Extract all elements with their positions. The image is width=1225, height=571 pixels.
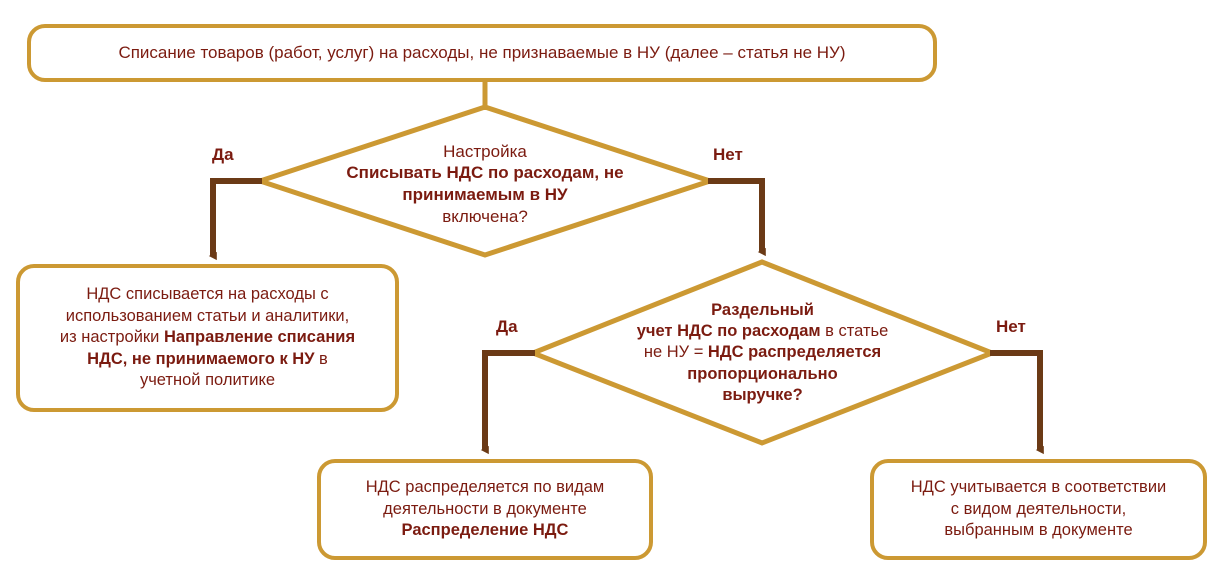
edge-decision2-yes — [485, 353, 535, 450]
edge-decision2-no — [990, 353, 1040, 450]
decision1-line-4: включена? — [346, 206, 623, 228]
result-left-line-5: учетной политике — [32, 370, 383, 391]
decision2-line-5: выручке? — [637, 385, 889, 406]
result-left-line-4-bold: НДС, не принимаемого к НУ — [87, 350, 314, 368]
node-result-bottom-right-text: НДС учитывается в соответствии с видом д… — [886, 477, 1191, 541]
edge-label-decision1-yes: Да — [212, 145, 234, 165]
node-start[interactable]: Списание товаров (работ, услуг) на расхо… — [27, 24, 937, 82]
edge-decision1-no — [708, 181, 762, 252]
node-decision1[interactable]: Настройка Списывать НДС по расходам, не … — [300, 130, 670, 238]
decision2-line-3: не НУ = НДС распределяется — [637, 342, 889, 363]
decision1-line-3: принимаемым в НУ — [346, 184, 623, 206]
decision1-line-1: Настройка — [346, 141, 623, 163]
decision2-line-2: учет НДС по расходам в статье — [637, 321, 889, 342]
edge-label-decision1-no: Нет — [713, 145, 743, 165]
node-decision1-text: Настройка Списывать НДС по расходам, не … — [346, 141, 623, 228]
result-bottom-left-line-3: Распределение НДС — [333, 520, 637, 541]
edge-label-decision2-yes: Да — [496, 317, 518, 337]
decision2-line-3-bold: НДС распределяется — [708, 343, 881, 361]
result-bottom-right-line-3: выбранным в документе — [886, 520, 1191, 541]
node-decision2-text: Раздельный учет НДС по расходам в статье… — [637, 300, 889, 406]
decision2-line-3-prefix: не НУ = — [644, 343, 708, 361]
result-bottom-left-line-2: деятельности в документе — [333, 499, 637, 520]
flowchart-canvas: Списание товаров (работ, услуг) на расхо… — [0, 0, 1225, 571]
decision2-diamond-shape — [533, 262, 992, 443]
result-left-line-3-bold: Направление списания — [164, 328, 355, 346]
node-result-left[interactable]: НДС списывается на расходы с использован… — [16, 264, 399, 412]
decision1-line-2: Списывать НДС по расходам, не — [346, 162, 623, 184]
decision2-line-4: пропорционально — [637, 364, 889, 385]
edge-label-decision2-no: Нет — [996, 317, 1026, 337]
result-left-line-4: НДС, не принимаемого к НУ в — [32, 349, 383, 370]
decision2-line-1: Раздельный — [637, 300, 889, 321]
result-left-line-2: использованием статьи и аналитики, — [32, 306, 383, 327]
result-bottom-right-line-2: с видом деятельности, — [886, 499, 1191, 520]
decision1-diamond-shape — [260, 107, 710, 255]
result-bottom-left-line-1: НДС распределяется по видам — [333, 477, 637, 498]
decision2-line-2-bold: учет НДС по расходам — [637, 322, 821, 340]
result-left-line-1: НДС списывается на расходы с — [32, 284, 383, 305]
result-bottom-right-line-1: НДС учитывается в соответствии — [886, 477, 1191, 498]
node-decision2[interactable]: Раздельный учет НДС по расходам в статье… — [575, 288, 950, 418]
node-start-text: Списание товаров (работ, услуг) на расхо… — [43, 42, 921, 64]
node-result-bottom-right[interactable]: НДС учитывается в соответствии с видом д… — [870, 459, 1207, 560]
node-result-left-text: НДС списывается на расходы с использован… — [32, 284, 383, 391]
result-left-line-3: из настройки Направление списания — [32, 327, 383, 348]
result-left-line-4-suffix: в — [314, 350, 327, 368]
node-start-line-1: Списание товаров (работ, услуг) на расхо… — [118, 43, 845, 62]
decision2-line-2-suffix: в статье — [821, 322, 889, 340]
result-left-line-3-prefix: из настройки — [60, 328, 164, 346]
node-result-bottom-left[interactable]: НДС распределяется по видам деятельности… — [317, 459, 653, 560]
edge-decision1-yes — [213, 181, 262, 256]
node-result-bottom-left-text: НДС распределяется по видам деятельности… — [333, 477, 637, 541]
